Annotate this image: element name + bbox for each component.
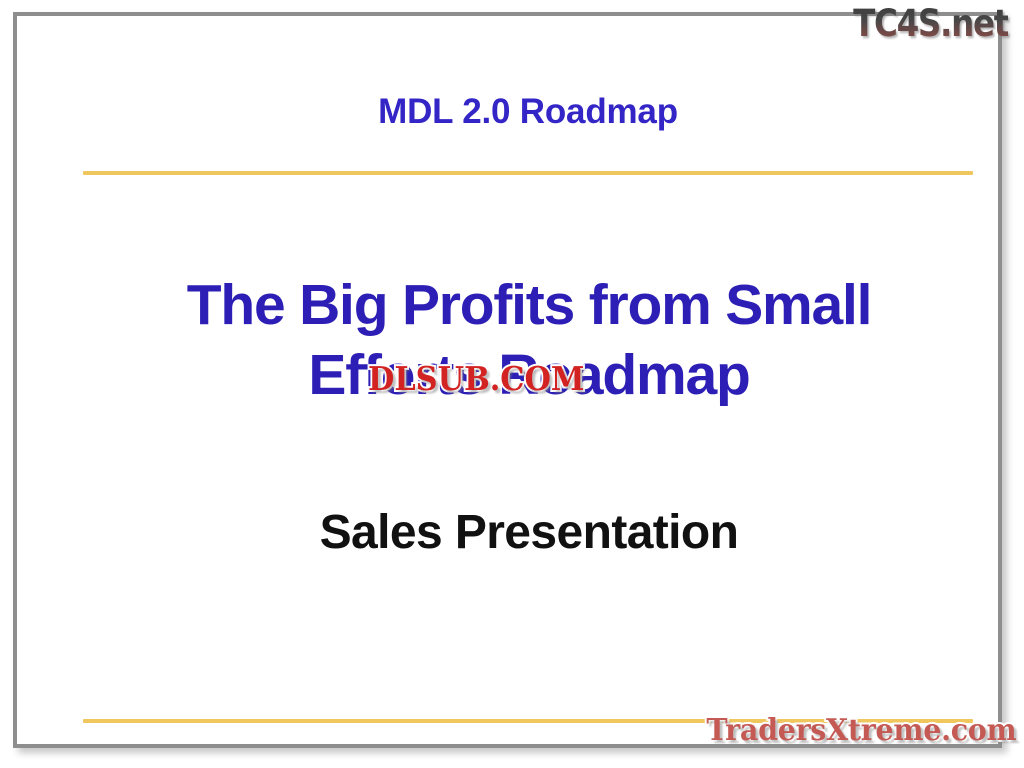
slide-frame: MDL 2.0 Roadmap The Big Profits from Sma… xyxy=(13,12,1002,748)
subtitle: Sales Presentation xyxy=(97,505,961,560)
main-title-line-2: Efforts Roadmap xyxy=(97,340,961,410)
main-title-line-1: The Big Profits from Small xyxy=(97,270,961,340)
divider-bottom xyxy=(83,719,973,723)
main-title: The Big Profits from Small Efforts Roadm… xyxy=(97,270,961,410)
divider-top xyxy=(83,171,973,175)
slide-root: MDL 2.0 Roadmap The Big Profits from Sma… xyxy=(0,0,1024,768)
page-title: MDL 2.0 Roadmap xyxy=(83,92,973,132)
